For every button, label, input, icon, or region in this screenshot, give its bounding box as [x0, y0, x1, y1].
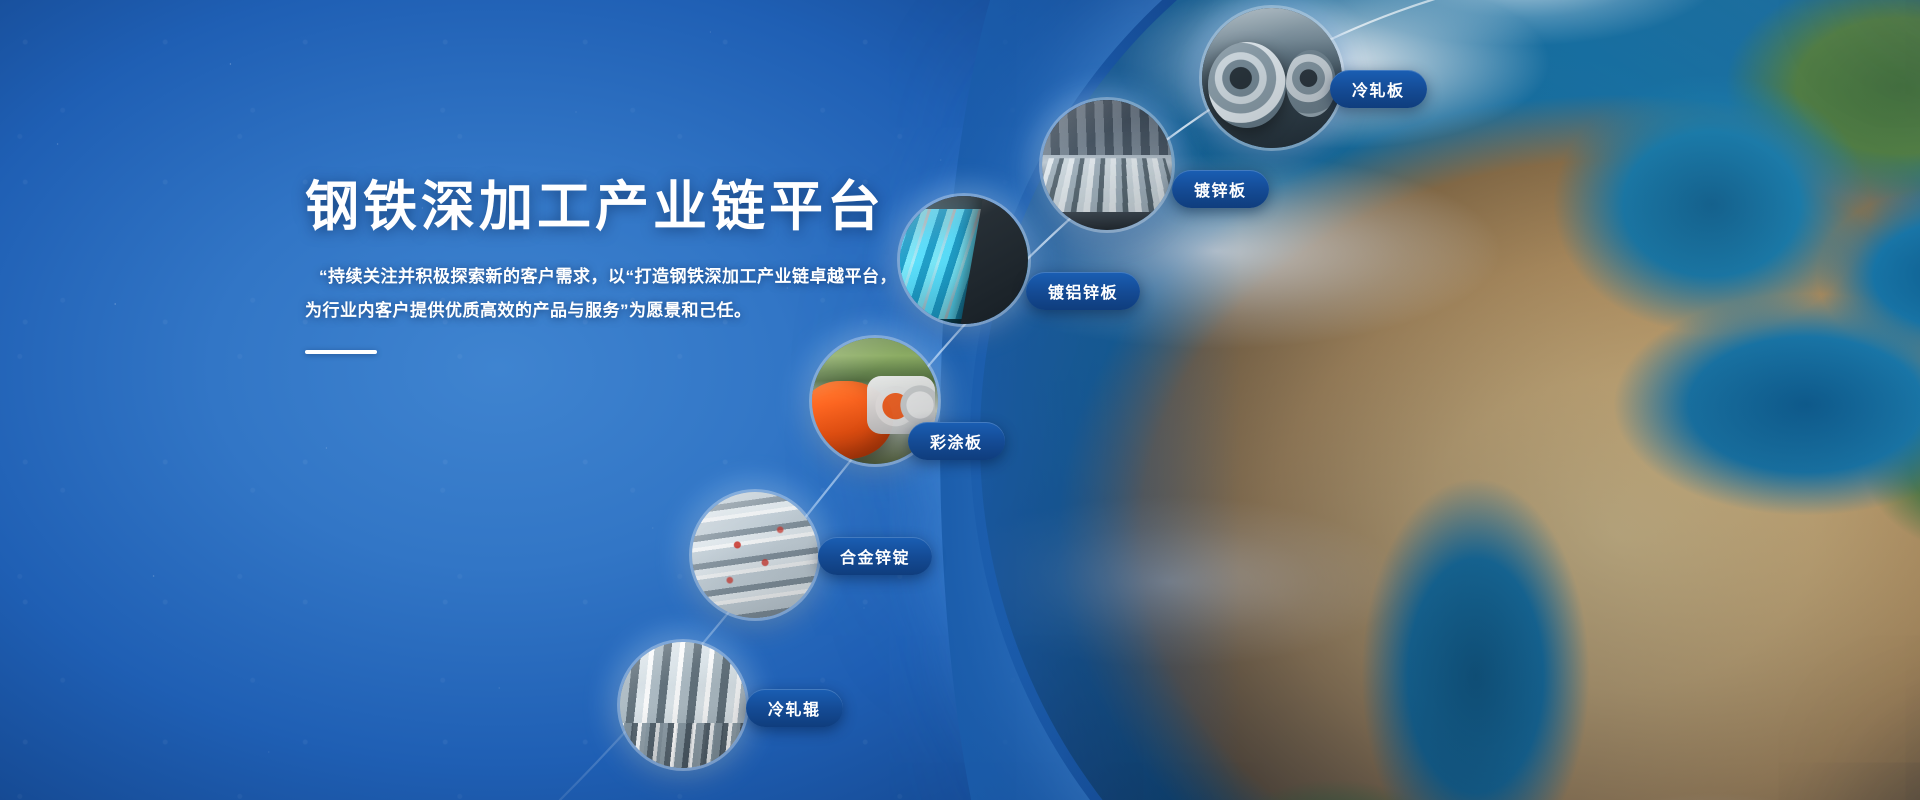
hero-copy: 钢铁深加工产业链平台 “持续关注并积极探索新的客户需求，以“打造钢铁深加工产业链… [305, 178, 945, 354]
star-speckle-overlay [0, 0, 1920, 800]
thumb-gloss-overlay [692, 492, 818, 618]
page-title: 钢铁深加工产业链平台 [305, 178, 945, 236]
hero-subtitle: “持续关注并积极探索新的客户需求，以“打造钢铁深加工产业链卓越平台， 为行业内客… [305, 260, 905, 328]
product-label-cold-rolling-roll[interactable]: 冷轧辊 [746, 689, 843, 727]
star-speckle-overlay-2 [0, 0, 1920, 800]
product-thumb-cold-rolled-sheet[interactable] [1202, 8, 1342, 148]
product-thumb-zinc-alloy-ingot[interactable] [692, 492, 818, 618]
product-label-galvanized-sheet[interactable]: 镀锌板 [1172, 170, 1269, 208]
product-thumb-galvanized-sheet[interactable] [1042, 100, 1172, 230]
connecting-curve-line [0, 0, 1920, 800]
subtitle-line-2: 为行业内客户提供优质高效的产品与服务”为愿景和己任。 [305, 294, 905, 328]
title-underline-rule [305, 350, 377, 354]
product-label-zinc-alloy-ingot[interactable]: 合金锌锭 [818, 537, 932, 575]
product-label-color-coated-sheet[interactable]: 彩涂板 [908, 422, 1005, 460]
thumb-gloss-overlay [900, 196, 1028, 324]
product-thumb-aluzinc-sheet[interactable] [900, 196, 1028, 324]
product-label-aluzinc-sheet[interactable]: 镀铝锌板 [1026, 272, 1140, 310]
thumb-gloss-overlay [1202, 8, 1342, 148]
product-thumb-cold-rolling-roll[interactable] [620, 642, 746, 768]
thumb-gloss-overlay [1042, 100, 1172, 230]
thumb-gloss-overlay [620, 642, 746, 768]
subtitle-line-1: “持续关注并积极探索新的客户需求，以“打造钢铁深加工产业链卓越平台， [305, 260, 905, 294]
hero-banner: 钢铁深加工产业链平台 “持续关注并积极探索新的客户需求，以“打造钢铁深加工产业链… [0, 0, 1920, 800]
product-label-cold-rolled-sheet[interactable]: 冷轧板 [1330, 70, 1427, 108]
